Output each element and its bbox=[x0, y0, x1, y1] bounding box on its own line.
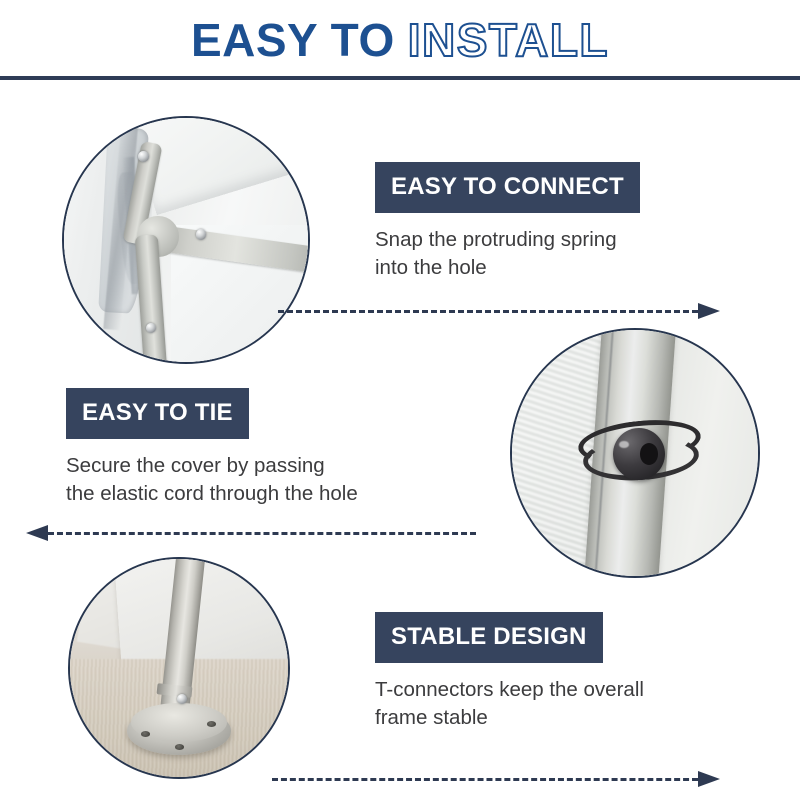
page-title-outline: INSTALL bbox=[408, 17, 609, 63]
connector-dashed-line bbox=[278, 310, 698, 313]
ball-toggle-highlight bbox=[619, 441, 629, 448]
corner-joint-photo bbox=[62, 116, 310, 364]
connector-tie-to-stable bbox=[26, 526, 476, 540]
section-label-connect: EASY TO CONNECT bbox=[375, 162, 640, 213]
base-plate-photo bbox=[68, 557, 290, 779]
infographic-page: EASY TO INSTALL bbox=[0, 0, 800, 800]
spring-button-top bbox=[138, 151, 149, 162]
page-title-solid: EASY TO bbox=[191, 17, 395, 63]
section-label-stable: STABLE DESIGN bbox=[375, 612, 603, 663]
corner-joint-photo-inner bbox=[64, 118, 308, 362]
section-body-stable: T-connectors keep the overall frame stab… bbox=[375, 676, 705, 732]
section-body-connect: Snap the protruding spring into the hole bbox=[375, 226, 695, 282]
spring-button-bottom bbox=[146, 323, 156, 333]
arrow-right-icon bbox=[698, 303, 720, 319]
header-divider bbox=[0, 76, 800, 80]
anchor-hole-front bbox=[175, 744, 184, 750]
spring-button-middle bbox=[196, 229, 207, 240]
pole-spring-button bbox=[177, 694, 187, 704]
anchor-hole-left bbox=[141, 731, 150, 737]
bungee-cord-photo bbox=[510, 328, 760, 578]
page-header: EASY TO INSTALL bbox=[0, 0, 800, 80]
connector-dashed-line bbox=[48, 532, 476, 535]
page-title: EASY TO INSTALL bbox=[191, 17, 609, 63]
section-body-tie: Secure the cover by passing the elastic … bbox=[66, 452, 416, 508]
base-plate-photo-inner bbox=[70, 559, 288, 777]
arrow-right-icon bbox=[698, 771, 720, 787]
bungee-cord-photo-inner bbox=[512, 330, 758, 576]
connector-stable-end bbox=[272, 772, 720, 786]
arrow-left-icon bbox=[26, 525, 48, 541]
connector-connect-to-tie bbox=[278, 304, 720, 318]
section-label-tie: EASY TO TIE bbox=[66, 388, 249, 439]
connector-dashed-line bbox=[272, 778, 698, 781]
